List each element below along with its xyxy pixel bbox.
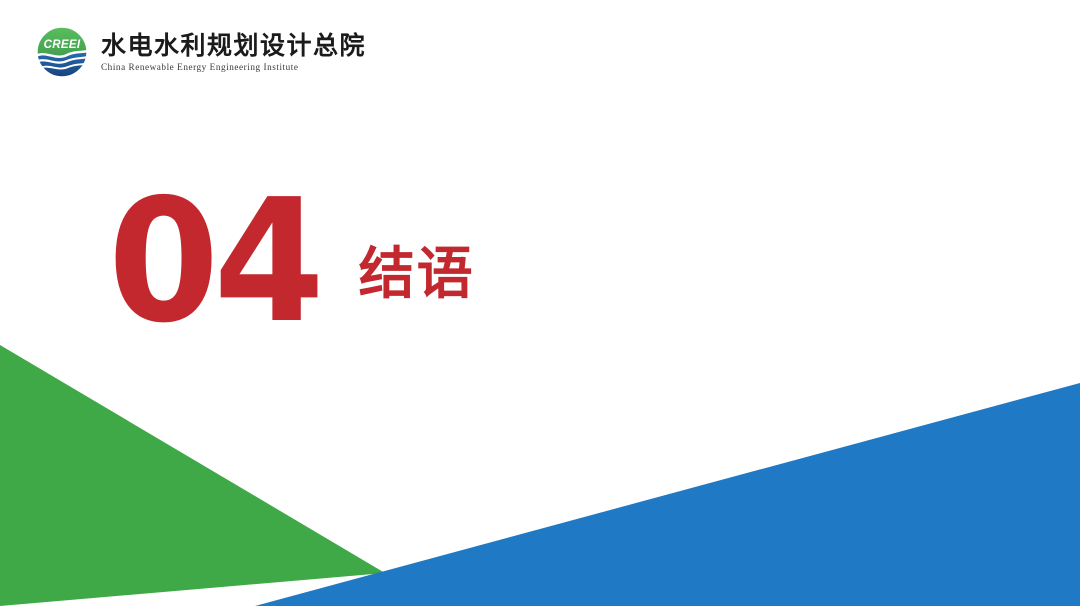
green-triangle-shape (0, 345, 385, 606)
organization-name-en: China Renewable Energy Engineering Insti… (101, 62, 366, 73)
section-heading: 04 结语 (108, 196, 475, 329)
brand-text-block: 水电水利规划设计总院 China Renewable Energy Engine… (101, 31, 366, 73)
creei-logo-icon: CREEI (36, 26, 88, 78)
slide-canvas: CREEI 水电水利规划设计总院 China Renewable Energy … (0, 0, 1080, 606)
brand-logo-lockup: CREEI 水电水利规划设计总院 China Renewable Energy … (36, 26, 366, 78)
section-number: 04 (108, 196, 319, 329)
section-title: 结语 (359, 247, 475, 303)
svg-text:CREEI: CREEI (44, 39, 81, 51)
organization-name-cn: 水电水利规划设计总院 (101, 33, 366, 59)
